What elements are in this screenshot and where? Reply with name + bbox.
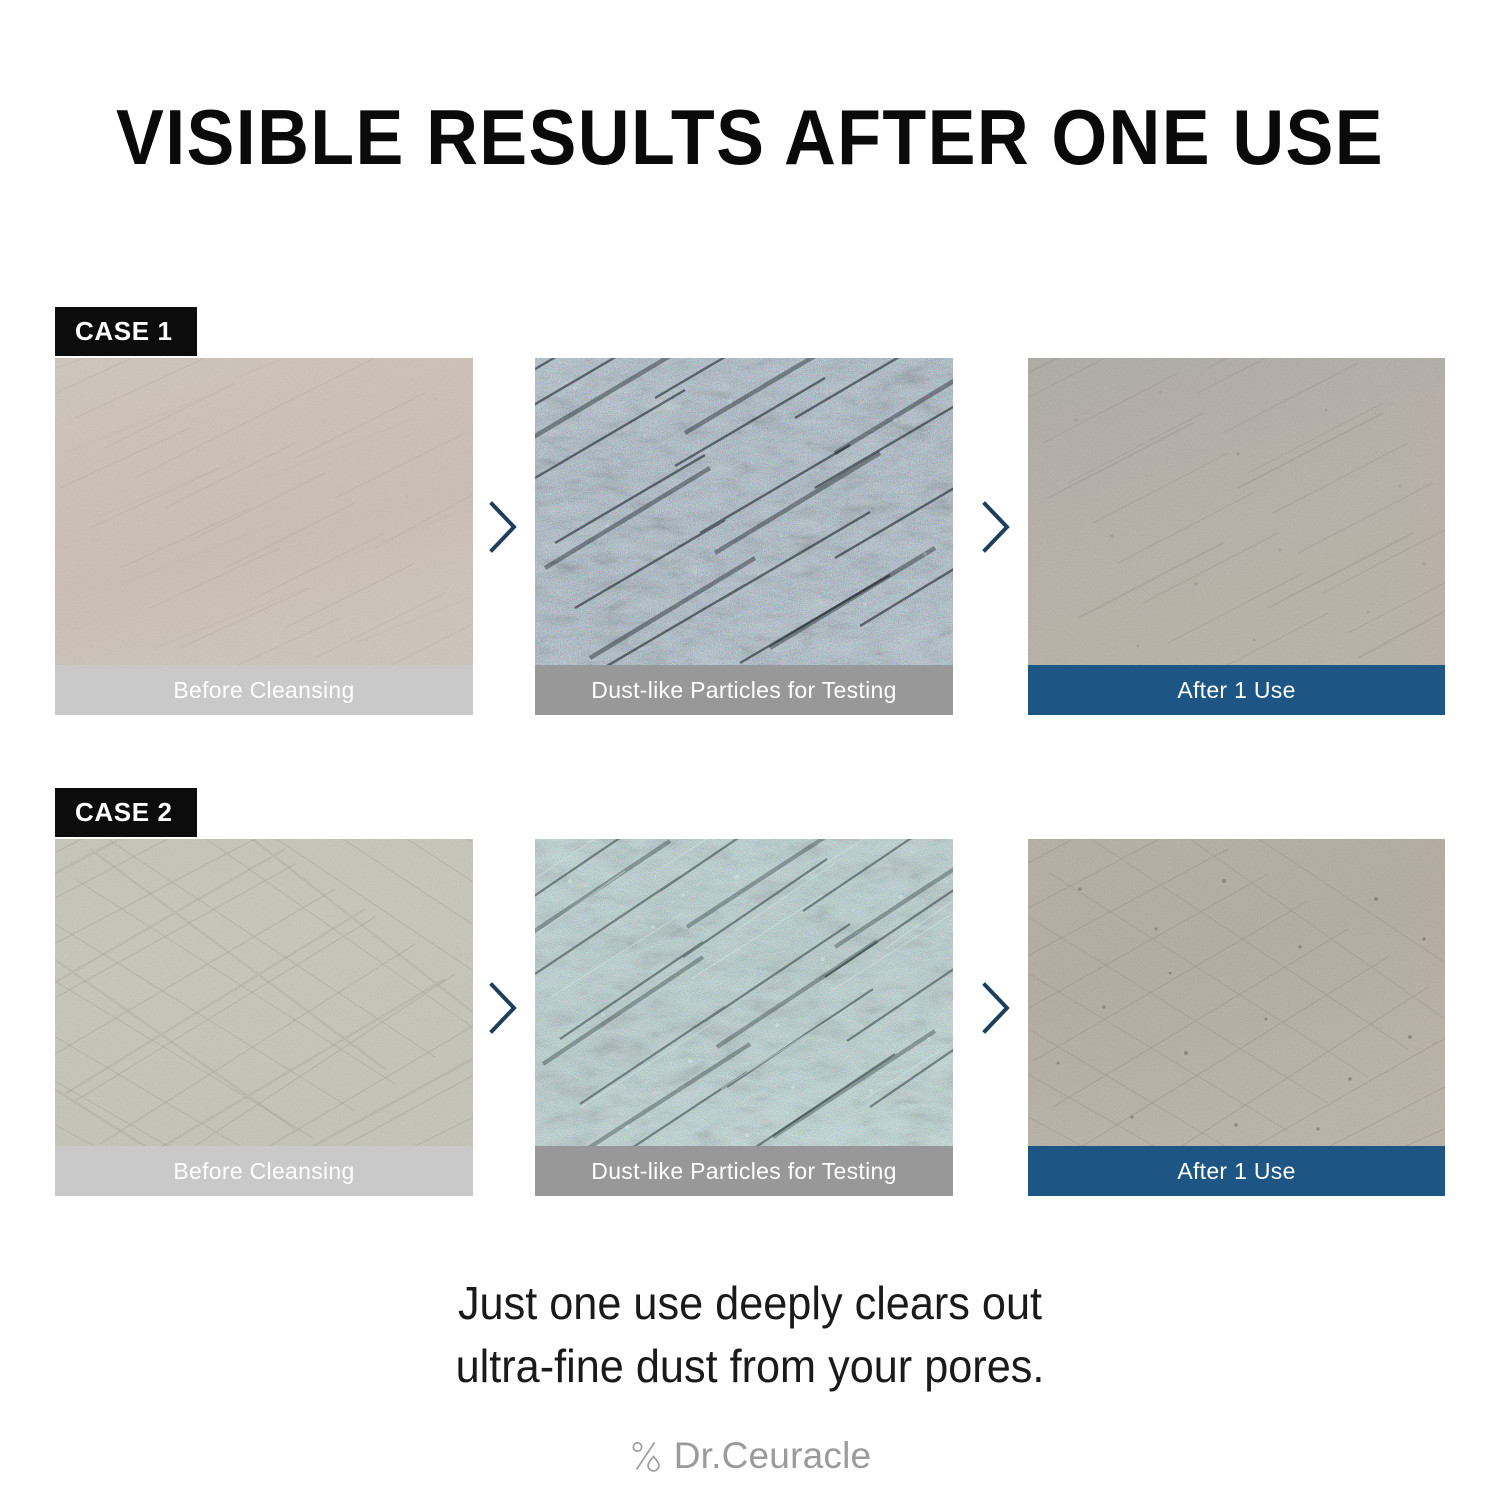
chevron-right-icon [973, 977, 1019, 1039]
case-badge-1: CASE 1 [55, 307, 197, 356]
case-1-panel-dust: Dust-like Particles for Testing [535, 358, 953, 715]
case-1-panel-before: Before Cleansing [55, 358, 473, 715]
skin-texture-image-after-case2 [1028, 839, 1445, 1146]
dust-texture-image-case2 [535, 839, 953, 1146]
tagline: Just one use deeply clears out ultra-fin… [45, 1272, 1455, 1399]
skin-texture-image-before-case1 [55, 358, 473, 665]
caption-after-case1: After 1 Use [1028, 665, 1445, 715]
chevron-right-icon [973, 496, 1019, 558]
percent-droplet-icon [629, 1439, 663, 1473]
tagline-line-1: Just one use deeply clears out [45, 1272, 1455, 1335]
case-badge-2: CASE 2 [55, 788, 197, 837]
caption-before-case2: Before Cleansing [55, 1146, 473, 1196]
caption-dust-case2: Dust-like Particles for Testing [535, 1146, 953, 1196]
case-2-panel-dust: Dust-like Particles for Testing [535, 839, 953, 1196]
case-1-panel-after: After 1 Use [1028, 358, 1445, 715]
tagline-line-2: ultra-fine dust from your pores. [45, 1335, 1455, 1398]
caption-dust-case1: Dust-like Particles for Testing [535, 665, 953, 715]
case-2-panel-before: Before Cleansing [55, 839, 473, 1196]
case-2-panels: Before Cleansing [55, 839, 1445, 1196]
chevron-right-icon [480, 977, 526, 1039]
dust-texture-image-case1 [535, 358, 953, 665]
brand-name: Dr.Ceuracle [674, 1437, 872, 1474]
case-1-panels: Before Cleansing [55, 358, 1445, 715]
skin-texture-image-before-case2 [55, 839, 473, 1146]
case-2-panel-after: After 1 Use [1028, 839, 1445, 1196]
skin-texture-image-after-case1 [1028, 358, 1445, 665]
page-title: VISIBLE RESULTS AFTER ONE USE [60, 92, 1440, 183]
chevron-right-icon [480, 496, 526, 558]
caption-before-case1: Before Cleansing [55, 665, 473, 715]
infographic-page: VISIBLE RESULTS AFTER ONE USE CASE 1 [0, 0, 1500, 1500]
brand-logo: Dr.Ceuracle [0, 1437, 1500, 1474]
caption-after-case2: After 1 Use [1028, 1146, 1445, 1196]
